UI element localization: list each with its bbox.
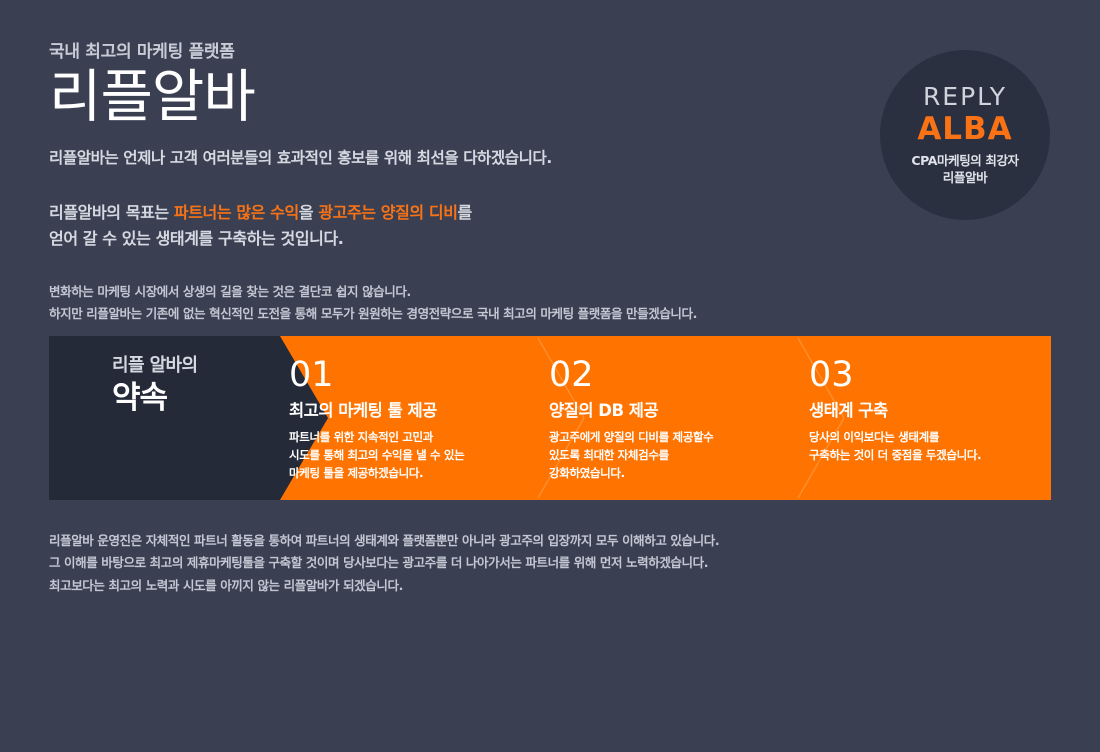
lead-text: 리플알바는 언제나 고객 여러분들의 효과적인 홍보를 위해 최선을 다하겠습니… xyxy=(49,148,849,170)
step-description: 파트너를 위한 지속적인 고민과 시도를 통해 최고의 수익을 낼 수 있는 마… xyxy=(289,429,539,482)
step-number: 02 xyxy=(549,357,799,394)
note-text: 변화하는 마케팅 시장에서 상생의 길을 찾는 것은 결단코 쉽지 않습니다. … xyxy=(49,281,849,325)
header-block: 국내 최고의 마케팅 플랫폼 리플알바 리플알바는 언제나 고객 여러분들의 효… xyxy=(49,42,849,324)
footer-paragraph: 리플알바 운영진은 자체적인 파트너 활동을 통하여 파트너의 생태계와 플랫폼… xyxy=(49,530,949,597)
promo-page: 국내 최고의 마케팅 플랫폼 리플알바 리플알바는 언제나 고객 여러분들의 효… xyxy=(0,0,1100,752)
goal-highlight-partner: 파트너는 많은 수익 xyxy=(174,203,299,222)
goal-statement: 리플알바의 목표는 파트너는 많은 수익을 광고주는 양질의 디비를 얻어 갈 … xyxy=(49,200,849,253)
logo-alba-text: ALBA xyxy=(917,112,1012,148)
promise-step-3: 03 생태계 구축 당사의 이익보다는 생태계를 구축하는 것이 더 중점을 두… xyxy=(809,357,1051,465)
step-number: 03 xyxy=(809,357,1051,394)
note-line-2: 하지만 리플알바는 기존에 없는 혁신적인 도전을 통해 모두가 원원하는 경영… xyxy=(49,306,697,321)
step-title: 양질의 DB 제공 xyxy=(549,400,799,421)
goal-part-2: 을 xyxy=(299,203,319,222)
promise-step-2: 02 양질의 DB 제공 광고주에게 양질의 디비를 제공할수 있도록 최대한 … xyxy=(549,357,799,483)
goal-part-3: 를 xyxy=(458,203,472,222)
goal-part-1: 리플알바의 목표는 xyxy=(49,203,174,222)
promise-banner: 리플 알바의 약속 01 최고의 마케팅 툴 제공 파트너를 위한 지속적인 고… xyxy=(49,336,1051,500)
promise-step-1: 01 최고의 마케팅 툴 제공 파트너를 위한 지속적인 고민과 시도를 통해 … xyxy=(289,357,539,483)
step-description: 당사의 이익보다는 생태계를 구축하는 것이 더 중점을 두겠습니다. xyxy=(809,429,1051,465)
brand-title: 리플알바 xyxy=(49,68,849,128)
promise-steps: 01 최고의 마케팅 툴 제공 파트너를 위한 지속적인 고민과 시도를 통해 … xyxy=(49,336,1051,500)
step-number: 01 xyxy=(289,357,539,394)
step-title: 생태계 구축 xyxy=(809,400,1051,421)
footer-line-2: 그 이해를 바탕으로 최고의 제휴마케팅툴을 구축할 것이며 당사보다는 광고주… xyxy=(49,555,708,570)
step-description: 광고주에게 양질의 디비를 제공할수 있도록 최대한 자체검수를 강화하였습니다… xyxy=(549,429,799,482)
footer-line-3: 최고보다는 최고의 노력과 시도를 아끼지 않는 리플알바가 되겠습니다. xyxy=(49,578,403,593)
goal-highlight-advertiser: 광고주는 양질의 디비 xyxy=(318,203,457,222)
logo-reply-text: REPLY xyxy=(923,83,1007,111)
step-title: 최고의 마케팅 툴 제공 xyxy=(289,400,539,421)
eyebrow-text: 국내 최고의 마케팅 플랫폼 xyxy=(49,42,849,62)
footer-line-1: 리플알바 운영진은 자체적인 파트너 활동을 통하여 파트너의 생태계와 플랫폼… xyxy=(49,533,719,548)
logo-subtitle-line-2: 리플알바 xyxy=(943,170,987,185)
logo-subtitle: CPA마케팅의 최강자 리플알바 xyxy=(911,153,1018,187)
logo-subtitle-line-1: CPA마케팅의 최강자 xyxy=(911,153,1018,168)
footer-block: 리플알바 운영진은 자체적인 파트너 활동을 통하여 파트너의 생태계와 플랫폼… xyxy=(49,530,949,597)
logo-badge: REPLY ALBA CPA마케팅의 최강자 리플알바 xyxy=(880,50,1050,220)
note-line-1: 변화하는 마케팅 시장에서 상생의 길을 찾는 것은 결단코 쉽지 않습니다. xyxy=(49,284,411,299)
goal-line-2: 얻어 갈 수 있는 생태계를 구축하는 것입니다. xyxy=(49,229,343,248)
